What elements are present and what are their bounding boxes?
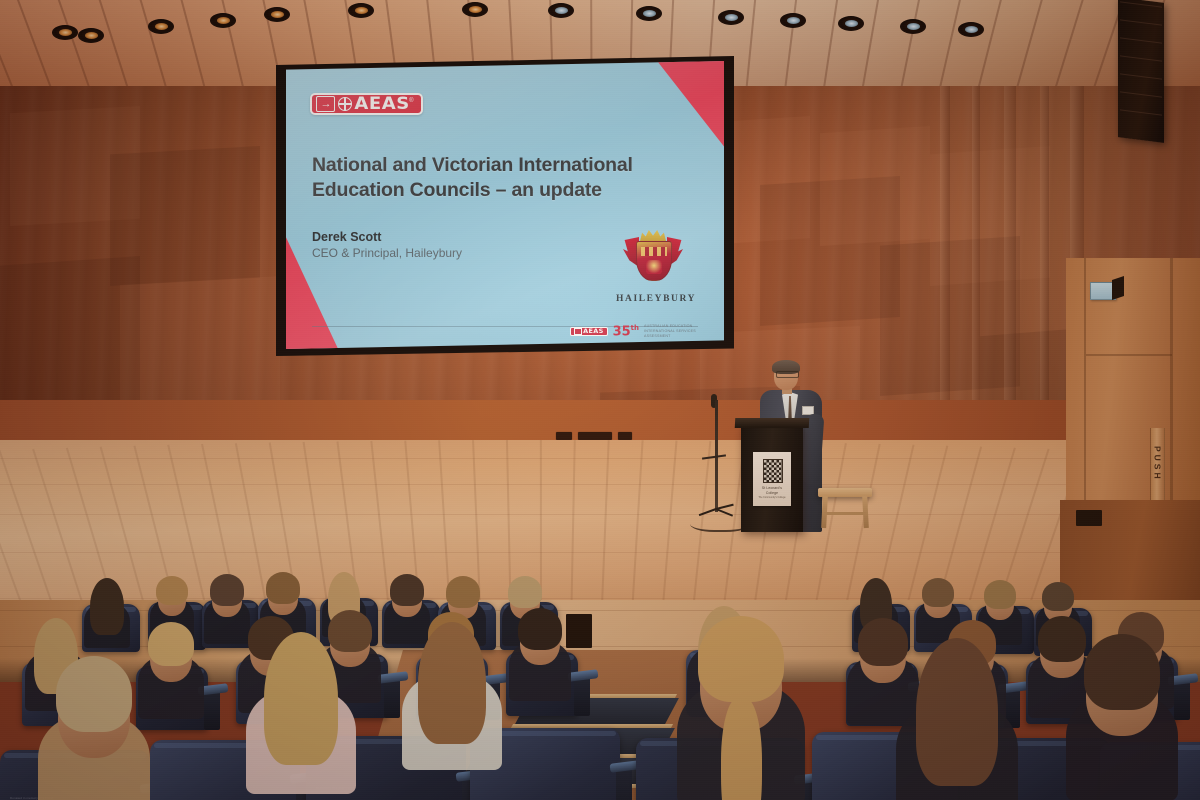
stage-jack-plate — [618, 432, 632, 440]
downlight-bulb — [155, 23, 168, 30]
audience-person-hair — [1042, 582, 1074, 611]
downlight-bulb — [59, 29, 72, 36]
audience-person-hair — [1084, 634, 1160, 710]
audience-person-hair — [518, 608, 562, 650]
wooden-stool — [818, 488, 872, 528]
ceiling-downlight — [780, 13, 806, 28]
lectern-sign: St Leonard's College The Community's Col… — [753, 452, 791, 506]
ceiling-downlight — [958, 22, 984, 37]
crest-name: HAILEYBURY — [616, 294, 690, 304]
slide-title: National and Victorian International Edu… — [312, 153, 682, 203]
audience-person-hair — [148, 622, 194, 666]
audience-person-hair — [328, 610, 372, 652]
wall-access-panel — [1076, 510, 1102, 526]
downlight-bulb — [907, 23, 920, 30]
audience-person-hair — [1038, 616, 1086, 662]
footer-arrow-icon — [574, 328, 582, 335]
auditorium-scene: → AEAS ® National and Victorian Internat… — [0, 0, 1200, 800]
shield-icon — [636, 241, 672, 281]
globe-icon — [338, 97, 352, 111]
ceiling-downlight — [52, 25, 78, 40]
downlight-bulb — [469, 6, 482, 13]
presenter-name: Derek Scott — [312, 229, 381, 246]
audience-person-hair — [922, 578, 954, 607]
downlight-bulb — [355, 7, 368, 14]
lectern-crest-icon — [763, 459, 783, 483]
crest-icon — [625, 229, 681, 291]
audience-person-hair — [210, 574, 244, 606]
audience-person-hair — [390, 574, 424, 606]
audience-person-ponytail — [721, 698, 762, 800]
glasses-icon — [776, 371, 799, 378]
ceiling-downlight — [78, 28, 104, 43]
audience-person-hair — [858, 618, 908, 666]
footer-aeas-logo: AEAS — [570, 327, 607, 336]
audience-person-hair — [156, 576, 188, 605]
ceiling-downlight — [838, 16, 864, 31]
stage-jack-plate — [556, 432, 572, 440]
ceiling-downlight — [900, 19, 926, 34]
haileybury-crest: HAILEYBURY — [616, 229, 690, 304]
audience-person-hair — [264, 632, 338, 765]
lectern-sign-subtitle: The Community's College — [756, 496, 788, 499]
downlight-bulb — [271, 11, 284, 18]
anniversary-badge: 35th — [613, 325, 639, 338]
presentation-slide[interactable]: → AEAS ® National and Victorian Internat… — [286, 61, 724, 349]
ceiling-downlight — [548, 3, 574, 18]
audience-person-hair — [266, 572, 300, 604]
audience-person-hair — [56, 656, 132, 732]
aeas-logo: → AEAS ® — [310, 93, 423, 115]
lectern: St Leonard's College The Community's Col… — [741, 424, 803, 532]
downlight-bulb — [555, 7, 568, 14]
line-array-speaker — [1118, 0, 1164, 143]
footer-aeas-wordmark: AEAS — [583, 328, 603, 335]
audience-person-hair — [90, 578, 124, 635]
ceiling-downlight — [264, 7, 290, 22]
ceiling-downlight — [718, 10, 744, 25]
registered-mark: ® — [409, 98, 413, 104]
aeas-wordmark: AEAS — [354, 96, 409, 113]
mic-boom — [702, 454, 726, 459]
downlight-bulb — [787, 17, 800, 24]
ceiling-downlight — [636, 6, 662, 21]
slide-footer: AEAS 35th AUSTRALIAN EDUCATION INTERNATI… — [570, 324, 700, 339]
anniversary-number: 35 — [613, 324, 631, 339]
audience-area: Donated in memory of a friendIn memory o… — [0, 560, 1200, 800]
stool-rail — [824, 512, 866, 515]
downlight-bulb — [643, 10, 656, 17]
downlight-bulb — [85, 32, 98, 39]
ceiling-downlight — [462, 2, 488, 17]
push-label: PUSH — [1153, 446, 1163, 482]
downlight-bulb — [217, 17, 230, 24]
door-sign-hood — [1112, 276, 1124, 300]
lectern-sign-title: St Leonard's College — [756, 486, 788, 496]
audience-person-hair — [418, 622, 486, 744]
ceiling-downlight — [348, 3, 374, 18]
crown-icon — [640, 229, 666, 241]
downlight-bulb — [845, 20, 858, 27]
audience-person-hair — [446, 576, 480, 608]
downlight-bulb — [965, 26, 978, 33]
audience-person-hair — [984, 580, 1016, 609]
slide-accent-wedge-top-right — [654, 61, 724, 149]
ceiling-downlight — [210, 13, 236, 28]
lectern-top — [735, 418, 810, 428]
downlight-bulb — [725, 14, 738, 21]
audience-person-hair — [916, 638, 998, 786]
audience-person-hair — [508, 576, 542, 608]
arrow-icon: → — [316, 96, 335, 112]
anniversary-suffix: th — [631, 324, 639, 332]
anniversary-tagline: AUSTRALIAN EDUCATION INTERNATIONAL SERVI… — [644, 324, 700, 339]
door-sign — [1090, 282, 1116, 300]
presenter-role: CEO & Principal, Haileybury — [312, 245, 462, 261]
ceiling-downlight — [148, 19, 174, 34]
stage-jack-plate — [578, 432, 612, 440]
audience-person-hair — [698, 616, 784, 702]
